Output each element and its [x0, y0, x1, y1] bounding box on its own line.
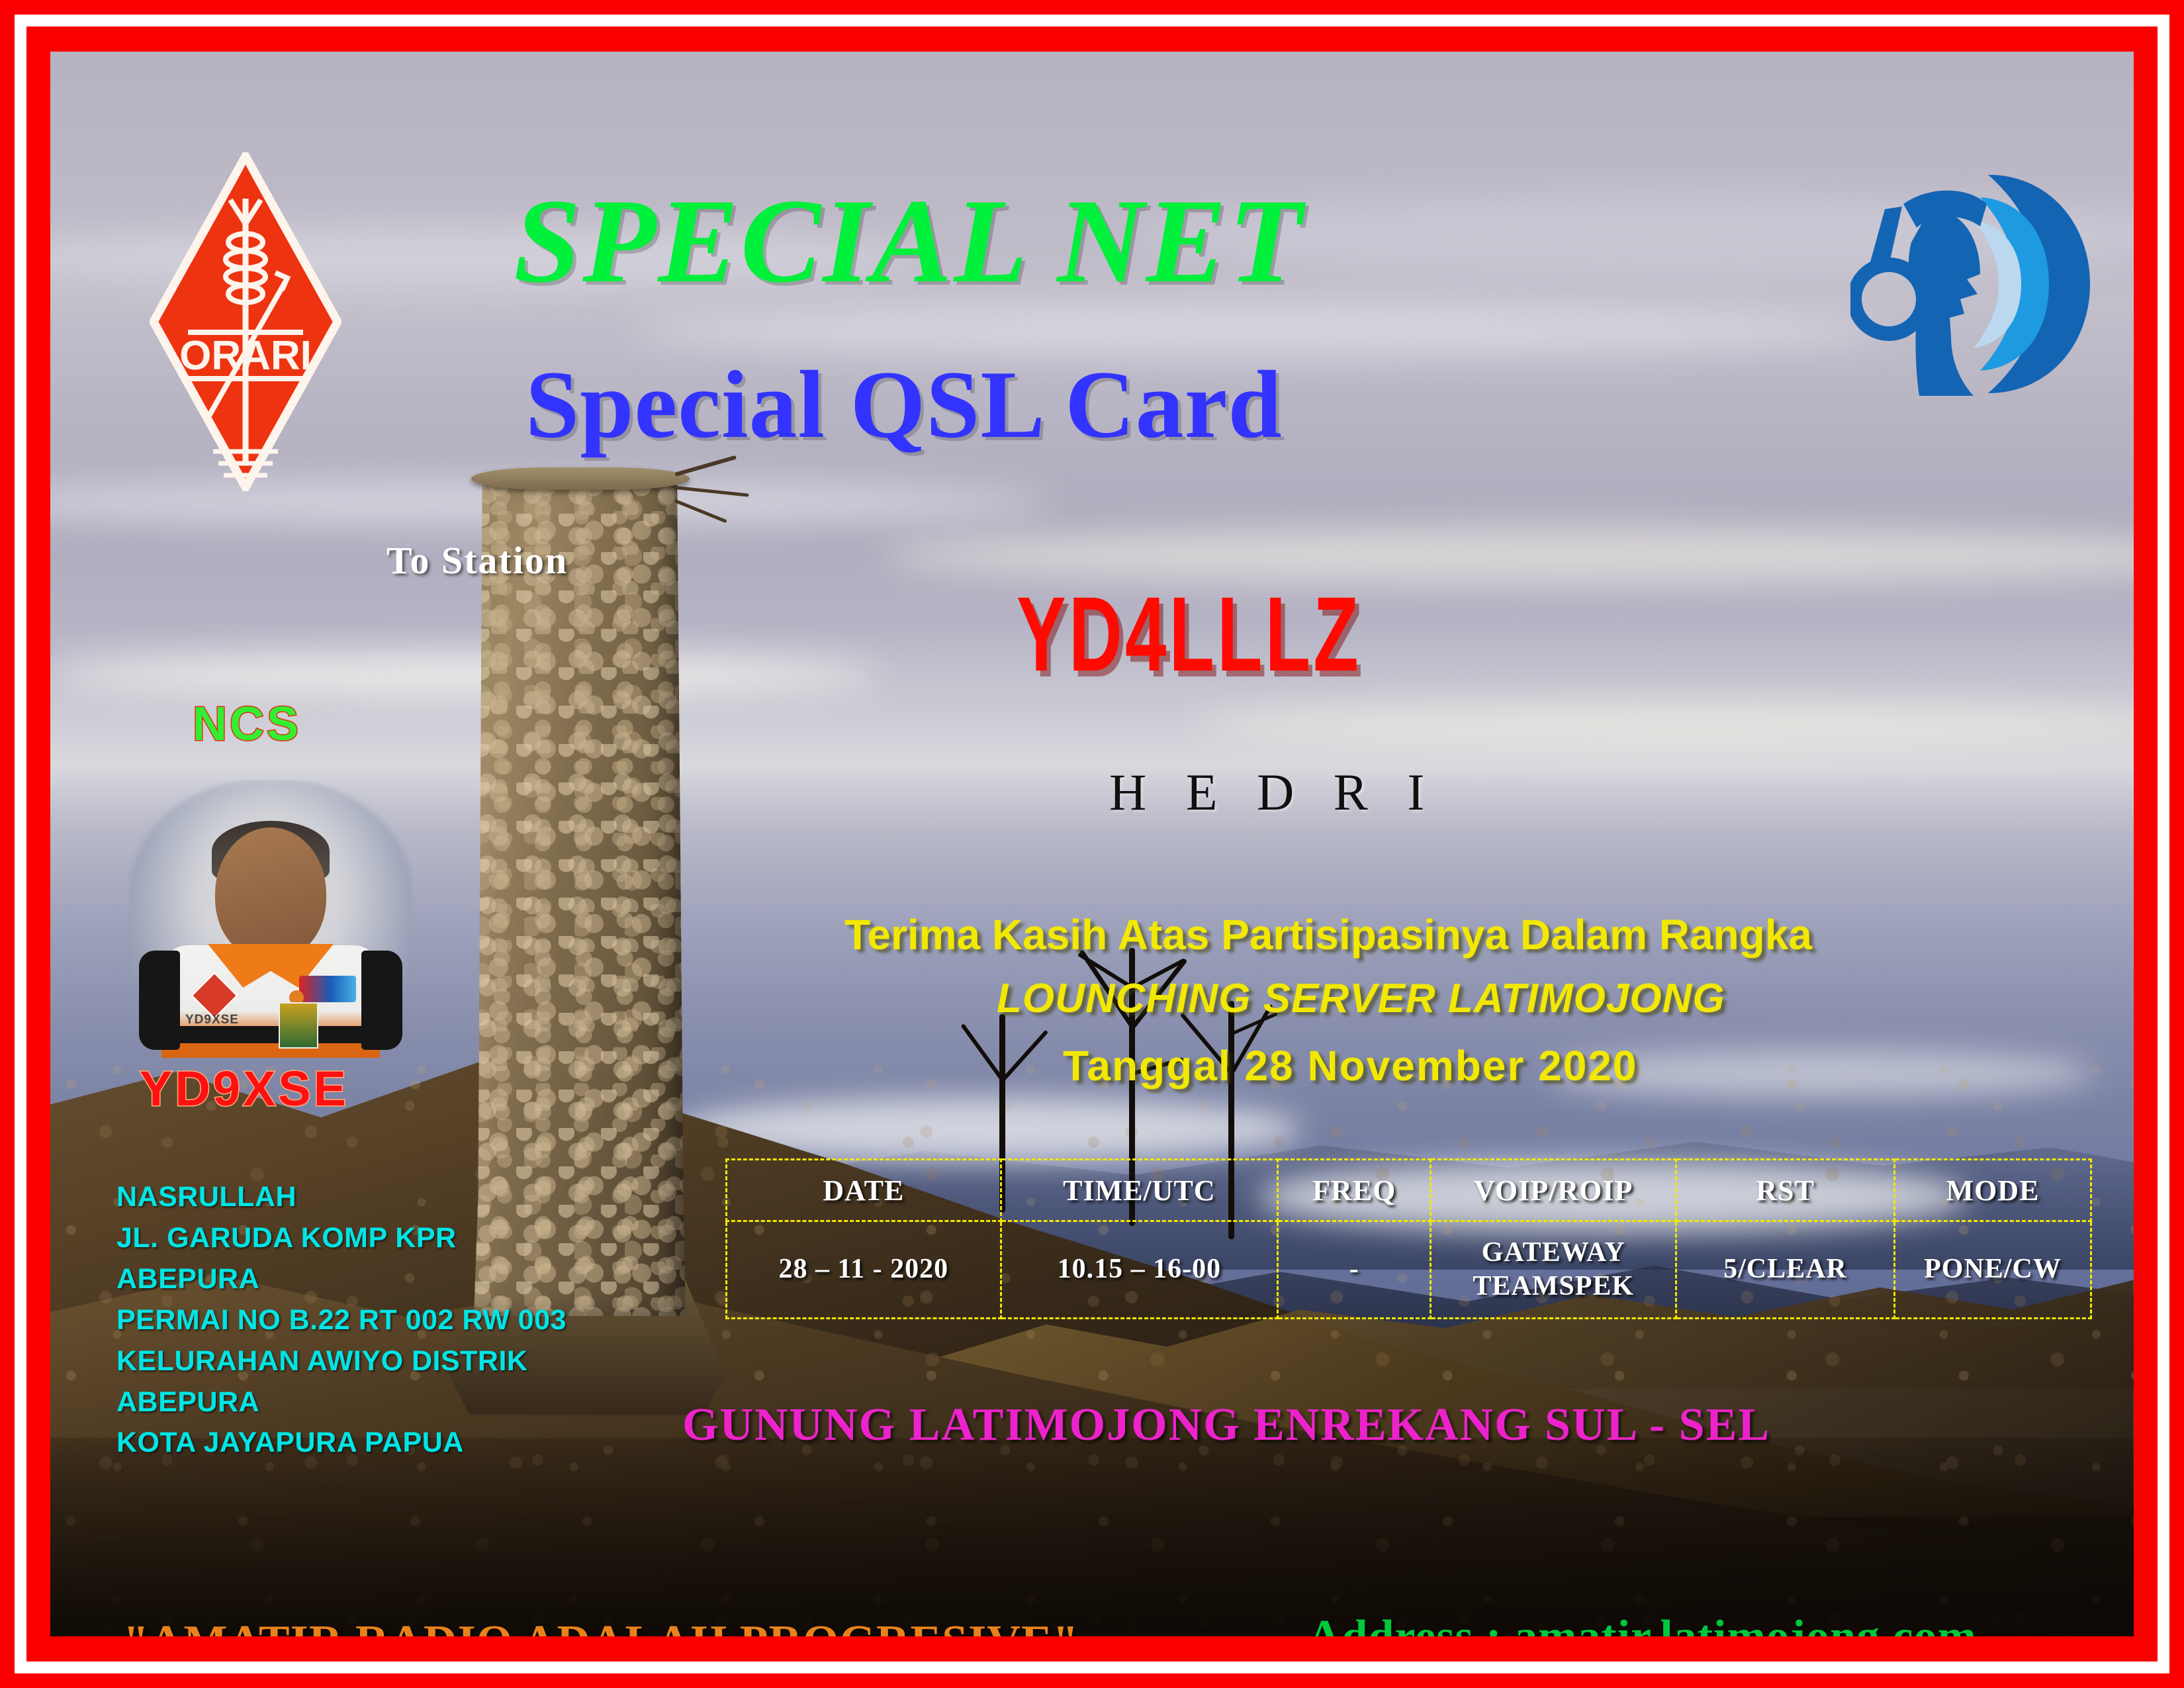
qsl-card: ORARI SPECIAL NET Special QSL [0, 0, 2184, 1688]
address-line: NASRULLAH [116, 1177, 567, 1218]
address-line: PERMAI NO B.22 RT 002 RW 003 [116, 1300, 567, 1341]
table-header-freq: FREQ [1278, 1160, 1431, 1221]
address-line: JL. GARUDA KOMP KPR [116, 1218, 567, 1259]
table-cell-freq: - [1278, 1221, 1431, 1319]
cloud-band [633, 305, 1884, 356]
ncs-operator-photo: YD9XSE [128, 780, 413, 1058]
portrait-id-card [279, 1002, 318, 1049]
qso-log-table: DATE TIME/UTC FREQ VOIP/ROIP RST MODE 28… [725, 1158, 2092, 1319]
pillar-cap [471, 467, 690, 490]
cloud-band [50, 654, 884, 695]
address-line: ABEPURA [116, 1382, 567, 1423]
title-special-net: SPECIAL NET [514, 181, 1304, 302]
ncs-label: NCS [193, 700, 301, 748]
orari-logo: ORARI [150, 152, 341, 491]
address-line: KELURAHAN AWIYO DISTRIK [116, 1341, 567, 1382]
portrait-shirt-callsign: YD9XSE [185, 1013, 239, 1027]
mountain-location-text: GUNUNG LATIMOJONG ENREKANG SUL - SEL [682, 1402, 1770, 1448]
table-header-mode: MODE [1895, 1160, 2091, 1221]
recipient-callsign: YD4LLLZ [1017, 581, 1361, 687]
thanks-line-1: Terima Kasih Atas Partisipasinya Dalam R… [844, 914, 1812, 956]
portrait-badge-patch [299, 976, 356, 1002]
table-cell-voip: GATEWAY TEAMSPEK [1431, 1221, 1676, 1319]
table-header-time: TIME/UTC [1001, 1160, 1277, 1221]
table-header-voip: VOIP/ROIP [1431, 1160, 1676, 1221]
table-header-date: DATE [727, 1160, 1001, 1221]
table-header-rst: RST [1676, 1160, 1895, 1221]
table-cell-time: 10.15 – 16-00 [1001, 1221, 1277, 1319]
address-line: ABEPURA [116, 1259, 567, 1300]
portrait-head [215, 827, 326, 960]
thanks-line-3: Tanggal 28 November 2020 [1063, 1045, 1638, 1087]
table-row: 28 – 11 - 2020 10.15 – 16-00 - GATEWAY T… [727, 1221, 2091, 1319]
voip-headset-logo [1850, 163, 2097, 405]
motto-text: "AMATIR RADIO ADALAH PROGRESIVE" [123, 1619, 1079, 1636]
thanks-line-2: LOUNCHING SERVER LATIMOJONG [997, 978, 1725, 1019]
dark-foreground [50, 1438, 2134, 1636]
table-header-row: DATE TIME/UTC FREQ VOIP/ROIP RST MODE [727, 1160, 2091, 1221]
table-cell-rst: 5/CLEAR [1676, 1221, 1895, 1319]
address-line: KOTA JAYAPURA PAPUA [116, 1423, 567, 1464]
table-cell-date: 28 – 11 - 2020 [727, 1221, 1001, 1319]
table-cell-mode: PONE/CW [1895, 1221, 2091, 1319]
address-block: NASRULLAH JL. GARUDA KOMP KPR ABEPURA PE… [116, 1177, 567, 1464]
to-station-label: To Station [387, 541, 568, 580]
operator-name: H E D R I [1109, 767, 1437, 818]
portrait-uniform-stripe [164, 1026, 377, 1043]
ncs-callsign: YD9XSE [140, 1064, 349, 1113]
web-address-text: Address : amatir.latimojong.com [1308, 1614, 1977, 1636]
title-special-qsl-card: Special QSL Card [525, 356, 1283, 453]
background-photograph: ORARI SPECIAL NET Special QSL [50, 52, 2134, 1636]
orari-logo-text: ORARI [179, 333, 312, 379]
